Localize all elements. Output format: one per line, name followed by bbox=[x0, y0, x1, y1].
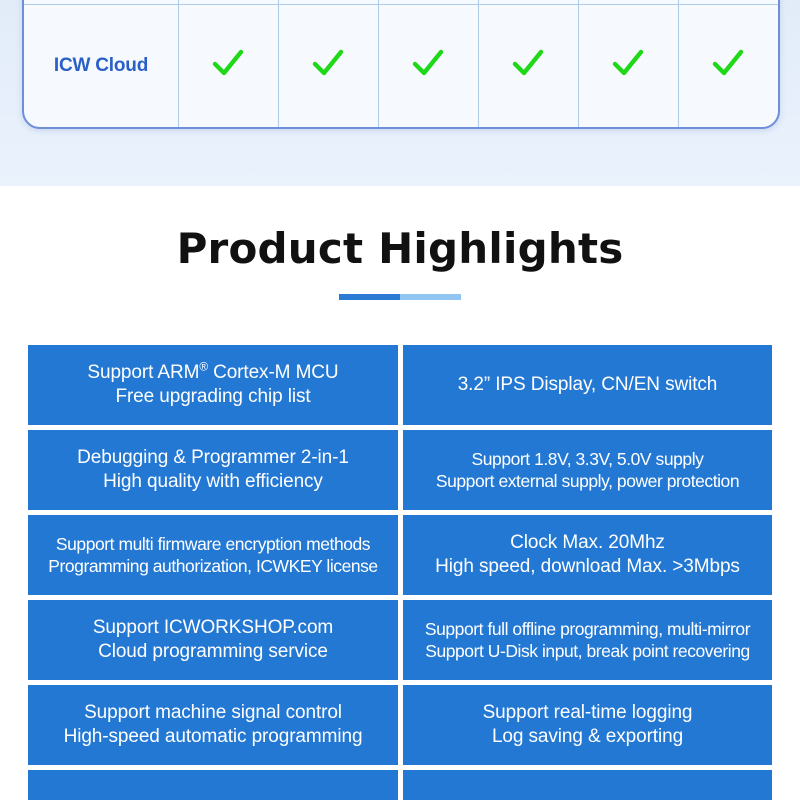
feature-box-debugger-programmer: Debugging & Programmer 2-in-1 High quali… bbox=[28, 430, 398, 510]
feature-text: Clock Max. 20Mhz High speed, download Ma… bbox=[435, 531, 740, 580]
feature-box-encryption: Support multi firmware encryption method… bbox=[28, 515, 398, 595]
feature-box-cloud-service: Support ICWORKSHOP.com Cloud programming… bbox=[28, 600, 398, 680]
cell-icwcloud-5 bbox=[578, 5, 678, 128]
feature-line-1: Support ARM bbox=[87, 362, 199, 383]
cell-icwcloud-3 bbox=[378, 5, 478, 128]
feature-text: Debugging & Programmer 2-in-1 High quali… bbox=[77, 446, 349, 495]
feature-line-2: Free upgrading chip list bbox=[115, 386, 310, 407]
feature-box-erase-methods: Supports multiple erase methods bbox=[28, 770, 398, 800]
check-icon bbox=[411, 48, 445, 80]
feature-row: Debugging & Programmer 2-in-1 High quali… bbox=[28, 430, 772, 510]
check-icon bbox=[311, 48, 345, 80]
feature-box-logging: Support real-time logging Log saving & e… bbox=[403, 685, 772, 765]
product-page: ICWKEY License ICW Cloud bbox=[0, 0, 800, 800]
feature-text: Support 1.8V, 3.3V, 5.0V supply Support … bbox=[436, 448, 739, 493]
check-icon bbox=[511, 48, 545, 80]
feature-box-ips-display: 3.2” IPS Display, CN/EN switch bbox=[403, 345, 772, 425]
divider-segment-left bbox=[339, 294, 400, 300]
check-icon bbox=[211, 48, 245, 80]
cell-icwcloud-4 bbox=[478, 5, 578, 128]
feature-row: Support multi firmware encryption method… bbox=[28, 515, 772, 595]
feature-text: Support real-time logging Log saving & e… bbox=[483, 701, 693, 750]
feature-text: Support full offline programming, multi-… bbox=[425, 618, 750, 663]
feature-row: Support ICWORKSHOP.com Cloud programming… bbox=[28, 600, 772, 680]
divider-segment-right bbox=[400, 294, 461, 300]
feature-text: Support ARM® Cortex-M MCUFree upgrading … bbox=[87, 361, 338, 410]
page-title: Product Highlights bbox=[0, 186, 800, 273]
feature-text: Support machine signal control High-spee… bbox=[64, 701, 363, 750]
feature-box-arm-cortex: Support ARM® Cortex-M MCUFree upgrading … bbox=[28, 345, 398, 425]
comparison-table: ICWKEY License ICW Cloud bbox=[24, 0, 778, 127]
title-divider bbox=[339, 294, 461, 300]
feature-text: Support ICWORKSHOP.com Cloud programming… bbox=[93, 616, 333, 665]
feature-line-1b: Cortex-M MCU bbox=[208, 362, 339, 383]
registered-mark: ® bbox=[199, 360, 208, 373]
table-row: ICW Cloud bbox=[24, 5, 778, 128]
feature-box-machine-signal: Support machine signal control High-spee… bbox=[28, 685, 398, 765]
check-icon bbox=[611, 48, 645, 80]
cell-icwcloud-6 bbox=[678, 5, 778, 128]
feature-box-clock-speed: Clock Max. 20Mhz High speed, download Ma… bbox=[403, 515, 772, 595]
feature-box-offline-programming: Support full offline programming, multi-… bbox=[403, 600, 772, 680]
check-icon bbox=[711, 48, 745, 80]
product-highlights-section: Product Highlights Support ARM® Cortex-M… bbox=[0, 186, 800, 800]
feature-box-power-supply: Support 1.8V, 3.3V, 5.0V supply Support … bbox=[403, 430, 772, 510]
comparison-table-band: ICWKEY License ICW Cloud bbox=[0, 0, 800, 186]
feature-text: 3.2” IPS Display, CN/EN switch bbox=[458, 373, 718, 397]
row-label-icw-cloud: ICW Cloud bbox=[24, 5, 179, 128]
feature-row: Support machine signal control High-spee… bbox=[28, 685, 772, 765]
feature-box-equip: Equip bbox=[403, 770, 772, 800]
cell-icwcloud-1 bbox=[179, 5, 279, 128]
cell-icwcloud-2 bbox=[278, 5, 378, 128]
feature-row: Supports multiple erase methods Equip bbox=[28, 770, 772, 800]
feature-row: Support ARM® Cortex-M MCUFree upgrading … bbox=[28, 345, 772, 425]
feature-grid: Support ARM® Cortex-M MCUFree upgrading … bbox=[28, 345, 772, 800]
comparison-table-card: ICWKEY License ICW Cloud bbox=[22, 0, 780, 129]
feature-text: Support multi firmware encryption method… bbox=[48, 533, 377, 578]
